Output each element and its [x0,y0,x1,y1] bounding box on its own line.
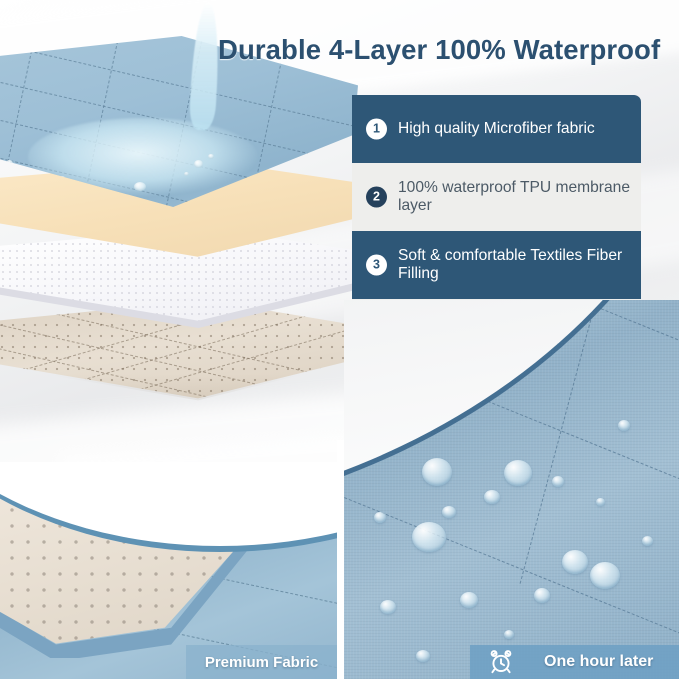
feature-label-2: 100% waterproof TPU membrane layer [398,179,641,215]
feature-badge-3: 3 [366,255,387,276]
page-title: Durable 4-Layer 100% Waterproof [218,34,658,74]
one-hour-later-text: One hour later [544,653,653,671]
feature-item-3: 3 Soft & comfortable Textiles Fiber Fill… [352,231,641,299]
premium-fabric-label: Premium Fabric [186,645,337,679]
feature-label-3: Soft & comfortable Textiles Fiber Fillin… [398,247,641,283]
layer-stack-illustration [0,10,400,450]
feature-item-2: 2 100% waterproof TPU membrane layer [352,163,641,231]
infographic-canvas: Durable 4-Layer 100% Waterproof 1 High q… [0,0,679,679]
alarm-clock-icon [488,649,514,675]
premium-fabric-text: Premium Fabric [205,654,318,671]
feature-label-1: High quality Microfiber fabric [398,120,595,138]
feature-badge-2: 2 [366,187,387,208]
photo-water-beading [344,300,679,679]
one-hour-later-label: One hour later [470,645,679,679]
feature-item-1: 1 High quality Microfiber fabric [352,95,641,163]
feature-badge-1: 1 [366,119,387,140]
panel-gap [337,440,344,679]
